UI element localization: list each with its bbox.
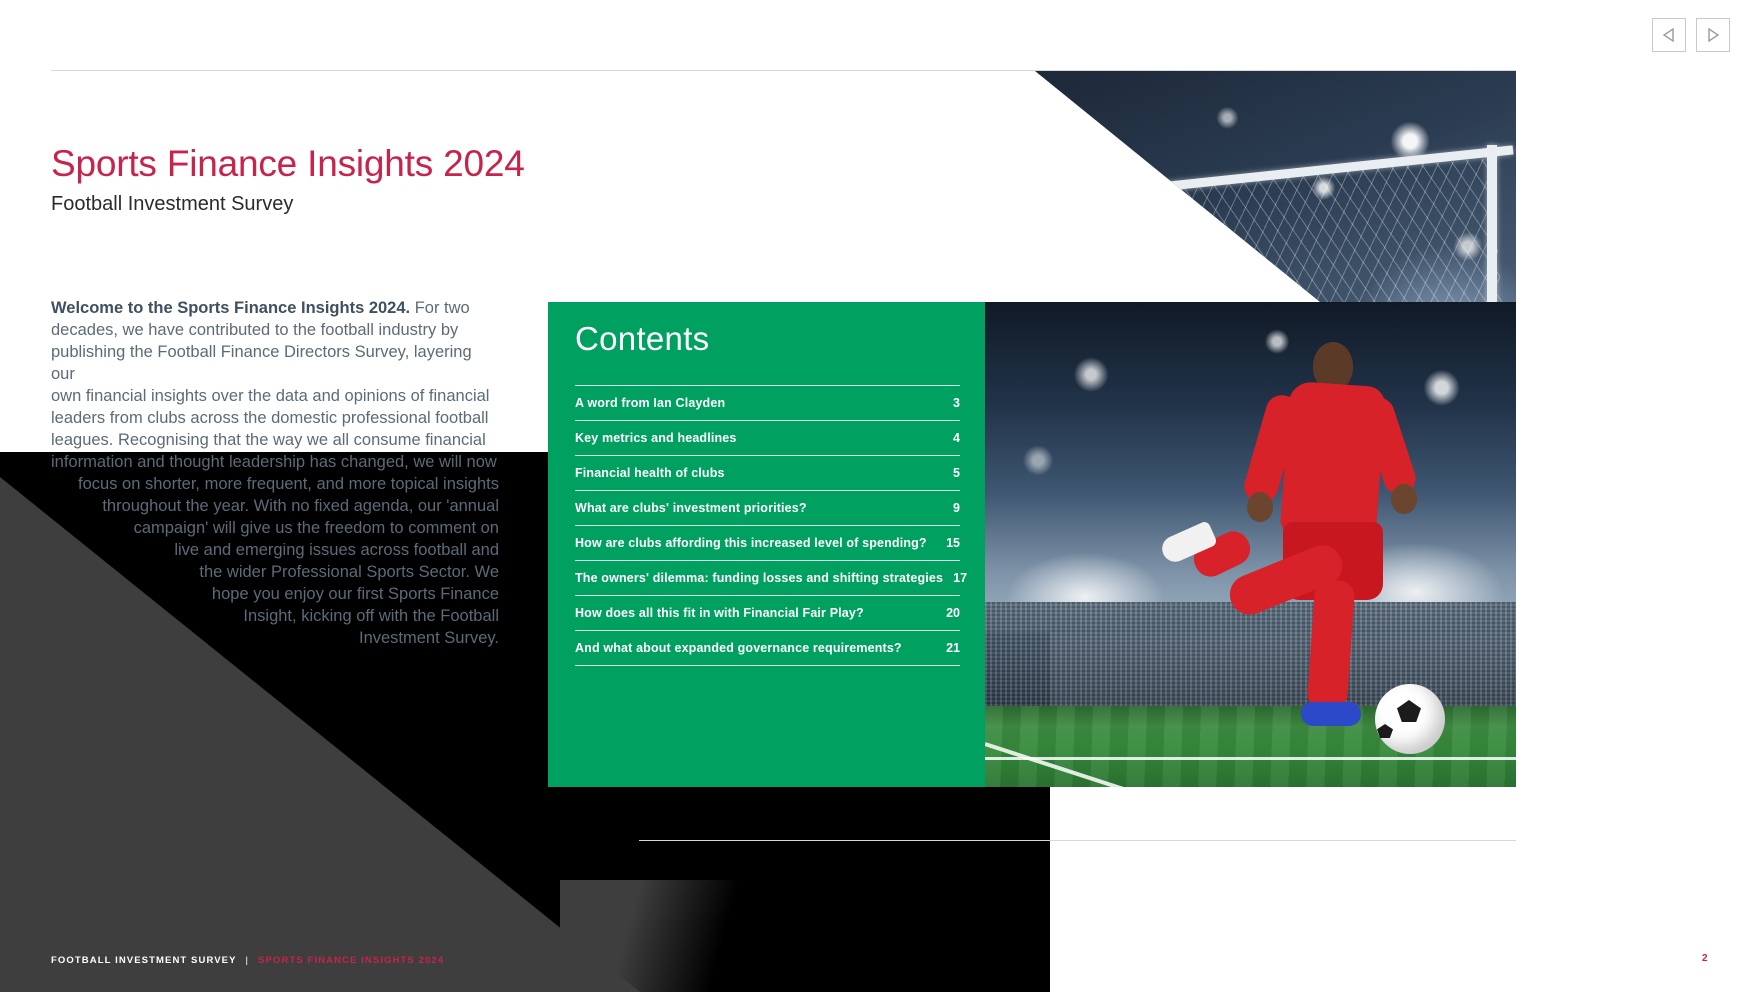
intro-lead: Welcome to the Sports Finance Insights 2…: [51, 299, 410, 317]
intro-paragraph: Welcome to the Sports Finance Insights 2…: [51, 297, 499, 649]
page-title: Sports Finance Insights 2024: [51, 143, 525, 185]
contents-item-page: 3: [943, 396, 960, 410]
triangle-right-icon: [1706, 27, 1720, 43]
contents-item-label: Key metrics and headlines: [575, 431, 736, 445]
contents-item-owners-dilemma[interactable]: The owners' dilemma: funding losses and …: [575, 561, 960, 596]
footer-divider: [639, 840, 1516, 841]
player-figure: [1135, 332, 1465, 772]
intro-line-5: leaders from clubs across the domestic p…: [51, 409, 488, 427]
contents-item-label: And what about expanded governance requi…: [575, 641, 902, 655]
contents-item-page: 5: [943, 466, 960, 480]
player-right-hand: [1391, 484, 1417, 514]
next-page-button[interactable]: [1696, 18, 1730, 52]
football-ball: [1375, 684, 1445, 754]
contents-item-financial-health-of-clubs[interactable]: Financial health of clubs 5: [575, 456, 960, 491]
contents-list: A word from Ian Clayden 3 Key metrics an…: [575, 385, 960, 666]
contents-item-a-word-from-ian-clayden[interactable]: A word from Ian Clayden 3: [575, 385, 960, 421]
previous-page-button[interactable]: [1652, 18, 1686, 52]
intro-line-6: leagues. Recognising that the way we all…: [51, 431, 486, 449]
contents-item-investment-priorities[interactable]: What are clubs' investment priorities? 9: [575, 491, 960, 526]
contents-item-label: How are clubs affording this increased l…: [575, 536, 927, 550]
player-left-hand: [1247, 492, 1273, 522]
contents-item-page: 17: [943, 571, 967, 585]
intro-line-7: information and thought leadership has c…: [51, 453, 497, 471]
contents-heading: Contents: [575, 320, 709, 358]
intro-line-11: live and emerging issues across football…: [174, 541, 499, 559]
footer-series-name: SPORTS FINANCE INSIGHTS 2024: [258, 955, 444, 966]
contents-item-label: What are clubs' investment priorities?: [575, 501, 807, 515]
contents-item-label: A word from Ian Clayden: [575, 396, 725, 410]
contents-item-label: The owners' dilemma: funding losses and …: [575, 571, 943, 585]
contents-item-page: 9: [943, 501, 960, 515]
footer-separator: |: [246, 955, 250, 966]
intro-line-2: decades, we have contributed to the foot…: [51, 321, 458, 339]
contents-panel: Contents A word from Ian Clayden 3 Key m…: [548, 302, 985, 787]
header-divider: [51, 70, 1516, 71]
intro-line-12: the wider Professional Sports Sector. We: [199, 563, 499, 581]
player-standing-leg: [1307, 579, 1356, 711]
intro-line-1: For two: [415, 299, 470, 317]
intro-line-8: focus on shorter, more frequent, and mor…: [78, 475, 499, 493]
page-canvas: Sports Finance Insights 2024 Football In…: [0, 0, 1748, 992]
contents-item-page: 15: [936, 536, 960, 550]
triangle-left-icon: [1662, 27, 1676, 43]
contents-item-key-metrics-and-headlines[interactable]: Key metrics and headlines 4: [575, 421, 960, 456]
player-boot: [1301, 702, 1361, 726]
contents-item-affording-increased-spending[interactable]: How are clubs affording this increased l…: [575, 526, 960, 561]
page-number: 2: [1702, 953, 1708, 964]
contents-item-financial-fair-play[interactable]: How does all this fit in with Financial …: [575, 596, 960, 631]
footballer-kicking-ball-photo: [985, 302, 1516, 787]
contents-item-governance-requirements[interactable]: And what about expanded governance requi…: [575, 631, 960, 666]
contents-item-page: 20: [936, 606, 960, 620]
footer: FOOTBALL INVESTMENT SURVEY | SPORTS FINA…: [51, 955, 444, 966]
contents-item-label: Financial health of clubs: [575, 466, 725, 480]
intro-line-9: throughout the year. With no fixed agend…: [102, 497, 499, 515]
page-subtitle: Football Investment Survey: [51, 193, 293, 216]
intro-line-10: campaign' will give us the freedom to co…: [134, 519, 499, 537]
intro-line-13: hope you enjoy our first Sports Finance: [212, 585, 499, 603]
contents-item-label: How does all this fit in with Financial …: [575, 606, 864, 620]
page-navigation: [1652, 18, 1730, 52]
contents-item-page: 21: [936, 641, 960, 655]
intro-line-3: publishing the Football Finance Director…: [51, 343, 472, 383]
grey-wedge-fade: [560, 880, 760, 992]
intro-line-15: Investment Survey.: [359, 629, 499, 647]
footer-document-name: FOOTBALL INVESTMENT SURVEY: [51, 955, 237, 966]
player-jersey: [1280, 381, 1386, 537]
contents-item-page: 4: [943, 431, 960, 445]
intro-line-14: Insight, kicking off with the Football: [243, 607, 499, 625]
intro-line-4: own financial insights over the data and…: [51, 387, 489, 405]
document-page: Sports Finance Insights 2024 Football In…: [0, 0, 1748, 992]
